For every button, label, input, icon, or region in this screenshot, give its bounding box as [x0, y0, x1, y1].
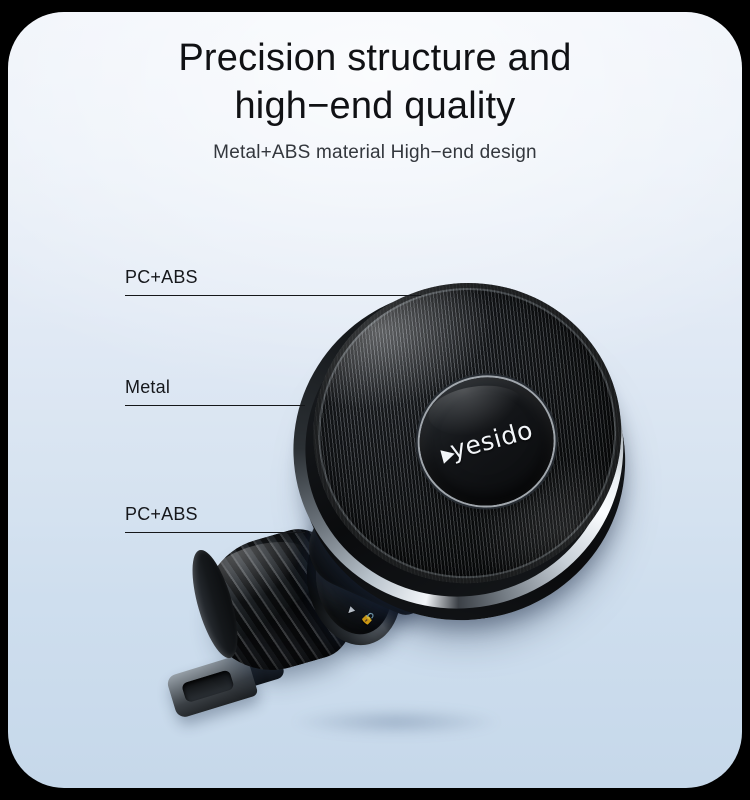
callout-leader-line — [125, 295, 421, 296]
callout-pc-abs-bottom: PC+ABS — [125, 499, 305, 533]
callout-label: PC+ABS — [125, 267, 198, 288]
page-subtitle: Metal+ABS material High−end design — [8, 142, 742, 164]
brand-logo: yesido — [418, 410, 555, 473]
image-frame: Precision structure and high−end quality… — [0, 0, 750, 800]
brand-logo-text: yesido — [447, 415, 536, 465]
callout-pc-abs-top: PC+ABS — [125, 262, 421, 296]
page-title: Precision structure and high−end quality — [8, 34, 742, 130]
magnetic-disc: yesido — [269, 256, 654, 650]
callout-metal: Metal — [125, 372, 305, 406]
product-card: Precision structure and high−end quality… — [8, 12, 742, 788]
title-line-1: Precision structure and — [178, 37, 571, 79]
callout-leader-line — [125, 405, 305, 406]
product-shadow — [246, 702, 546, 742]
title-line-2: high−end quality — [8, 82, 742, 130]
callout-label: PC+ABS — [125, 504, 198, 525]
callout-label: Metal — [125, 377, 170, 398]
callout-leader-line — [125, 532, 305, 533]
